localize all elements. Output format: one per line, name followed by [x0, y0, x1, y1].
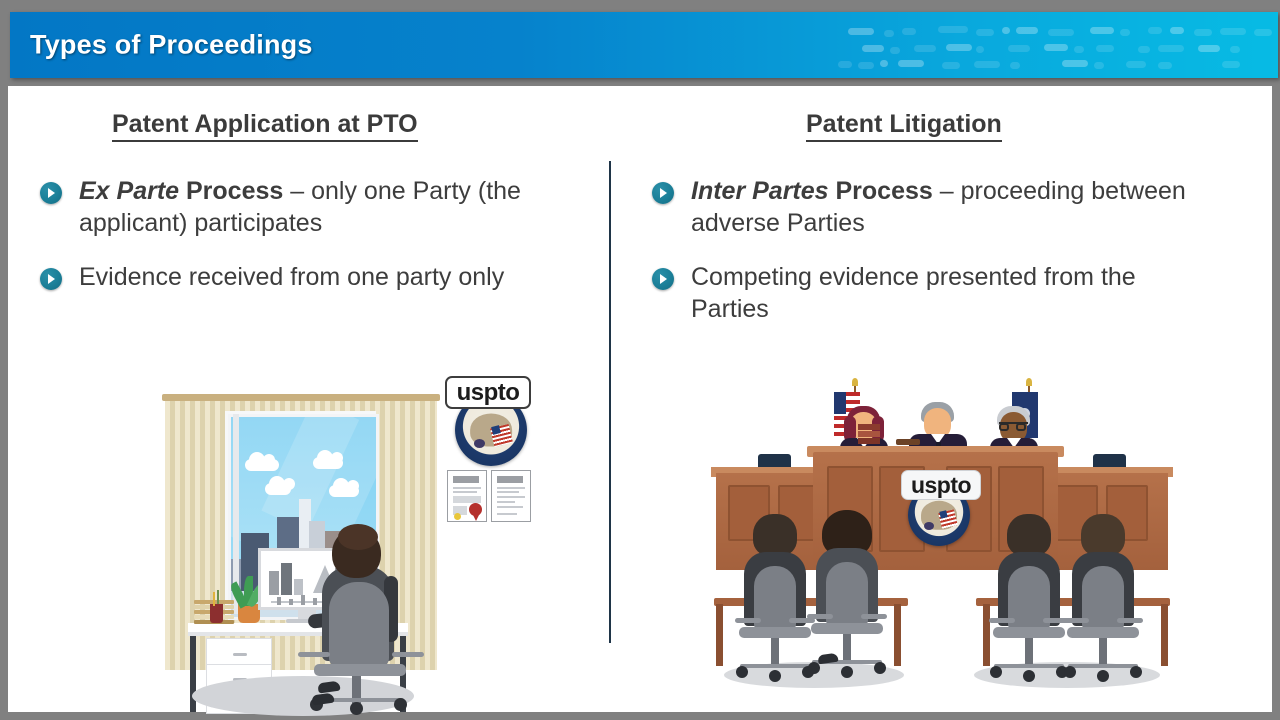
- table-leg: [983, 604, 990, 666]
- table-leg: [894, 604, 901, 666]
- list-item: Competing evidence presented from the Pa…: [652, 261, 1197, 326]
- screen-sparkline-bar: [301, 595, 305, 605]
- document-line: [497, 501, 515, 503]
- document-line: [497, 487, 525, 489]
- bullet-text: Competing evidence presented from the Pa…: [691, 261, 1197, 326]
- curtain-rod: [162, 394, 440, 401]
- document-line: [453, 487, 481, 489]
- document-header-bar: [497, 476, 523, 483]
- chair-caster: [841, 666, 853, 678]
- chair-caster: [1023, 670, 1035, 682]
- chair-armrest: [989, 618, 1015, 623]
- page-title: Types of Proceedings: [30, 30, 313, 61]
- screen-chart-bar: [281, 563, 292, 595]
- play-circle-bullet-icon: [40, 268, 62, 290]
- document-block: [453, 496, 481, 503]
- chair-post: [1025, 638, 1033, 666]
- chair-armrest: [861, 614, 887, 619]
- document-line: [497, 513, 517, 515]
- bullet-strong: Process: [829, 177, 933, 205]
- slide: Types of Proceedings Patent Application …: [0, 0, 1280, 720]
- pencil: [213, 592, 215, 606]
- chair-post: [1099, 638, 1107, 666]
- bullet-text: Evidence received from one party only: [79, 261, 504, 293]
- pencil: [217, 590, 219, 604]
- column-heading-patent-litigation: Patent Litigation: [806, 110, 1002, 142]
- list-item: Ex Parte Process – only one Party (the a…: [40, 175, 585, 240]
- grapes-emblem: [474, 439, 486, 448]
- bullet-emphasis: Inter Partes: [691, 177, 829, 205]
- play-circle-bullet-icon: [652, 268, 674, 290]
- head: [1007, 514, 1051, 556]
- drawer-divider: [207, 664, 271, 665]
- cloud-icon: [329, 485, 359, 497]
- award-ribbon-icon: [469, 503, 482, 516]
- patent-examiner-office-illustration: uspto: [162, 376, 542, 698]
- patent-document: [491, 470, 531, 522]
- play-circle-bullet-icon: [40, 182, 62, 204]
- chair-wheel-base: [994, 664, 1064, 668]
- floor-shadow: [192, 676, 414, 716]
- chair-armrest: [298, 652, 330, 657]
- table-leg: [1161, 604, 1168, 666]
- document-header-bar: [453, 476, 479, 483]
- bullet-rest: Evidence received from one party only: [79, 263, 504, 291]
- chair-caster: [1130, 666, 1142, 678]
- drawer-handle: [233, 653, 247, 656]
- column-divider: [609, 161, 611, 643]
- cloud-icon: [313, 457, 343, 469]
- glasses-icon: [999, 422, 1028, 431]
- play-circle-bullet-icon: [652, 182, 674, 204]
- uspto-wordmark: uspto: [901, 470, 981, 500]
- chair-caster: [990, 666, 1002, 678]
- gold-seal-icon: [454, 513, 461, 520]
- chair-caster: [394, 698, 407, 711]
- grapes-emblem: [924, 522, 934, 530]
- chair-armrest: [392, 652, 424, 657]
- chair-armrest: [807, 614, 833, 619]
- head: [1081, 514, 1125, 556]
- book: [858, 424, 880, 430]
- bullet-strong: Process: [179, 177, 283, 205]
- chair-seat: [739, 627, 811, 638]
- bullet-list-left: Ex Parte Process – only one Party (the a…: [40, 175, 585, 314]
- gavel-icon: [896, 439, 920, 445]
- cloud-icon: [245, 459, 279, 471]
- courtroom-hearing-illustration: uspto: [706, 376, 1178, 698]
- chair-seat: [993, 627, 1065, 638]
- bullet-list-right: Inter Partes Process – proceeding betwee…: [652, 175, 1197, 346]
- person-hair-highlight: [338, 524, 378, 550]
- patent-document-with-seal: [447, 470, 487, 522]
- chair-seat: [811, 623, 883, 634]
- chair-armrest: [1063, 618, 1089, 623]
- screen-chart-bar: [294, 579, 303, 595]
- chair-wheel-base: [1068, 664, 1138, 668]
- office-chair-seat: [314, 664, 406, 676]
- chair-post: [843, 634, 851, 662]
- bullet-text: Ex Parte Process – only one Party (the a…: [79, 175, 585, 240]
- chair-caster: [769, 670, 781, 682]
- table-leg: [716, 604, 723, 666]
- uspto-logo-group: uspto: [445, 376, 537, 506]
- chair-post: [771, 638, 779, 666]
- head: [753, 514, 797, 556]
- screen-chart-bar: [269, 571, 279, 595]
- document-line: [497, 491, 519, 493]
- law-books: [858, 424, 880, 448]
- pencil-cup: [210, 604, 223, 623]
- chair-caster: [1064, 666, 1076, 678]
- list-item: Evidence received from one party only: [40, 261, 585, 293]
- list-item: Inter Partes Process – proceeding betwee…: [652, 175, 1197, 240]
- book: [858, 431, 880, 437]
- document-line: [497, 496, 525, 498]
- slide-header-bar: Types of Proceedings: [10, 12, 1278, 78]
- cloud-icon: [265, 483, 291, 495]
- column-heading-patent-application: Patent Application at PTO: [112, 110, 418, 142]
- chair-caster: [808, 662, 820, 674]
- screen-sparkline-bar: [289, 599, 293, 605]
- document-line: [497, 506, 523, 508]
- book: [858, 438, 880, 444]
- chair-armrest: [1117, 618, 1143, 623]
- bullet-rest: Competing evidence presented from the Pa…: [691, 263, 1136, 323]
- chair-caster: [736, 666, 748, 678]
- screen-sparkline-bar: [313, 598, 317, 605]
- uspto-wordmark: uspto: [445, 376, 531, 409]
- header-decorative-pattern: [818, 12, 1278, 78]
- chair-wheel-base: [740, 664, 810, 668]
- office-chair-back: [329, 582, 389, 668]
- chair-armrest: [735, 618, 761, 623]
- screen-sparkline-bar: [277, 597, 281, 605]
- document-line: [453, 491, 477, 493]
- bullet-text: Inter Partes Process – proceeding betwee…: [691, 175, 1197, 240]
- chair-caster: [874, 662, 886, 674]
- bullet-emphasis: Ex Parte: [79, 177, 179, 205]
- chair-caster: [350, 702, 363, 715]
- chair-seat: [1067, 627, 1139, 638]
- chair-caster: [1097, 670, 1109, 682]
